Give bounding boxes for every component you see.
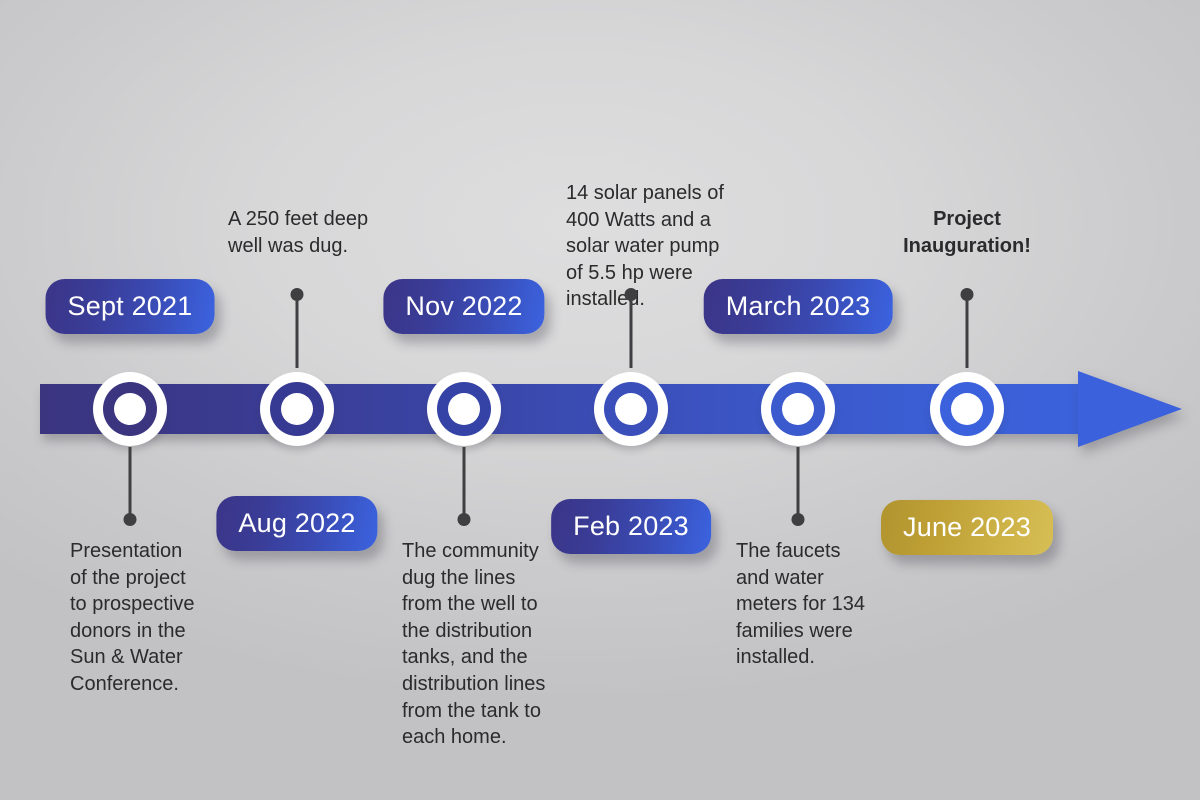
milestone-pin-stem-5: [797, 447, 800, 519]
milestone-label-text-6: June 2023: [903, 512, 1031, 543]
milestone-pin-dot-5: [792, 513, 805, 526]
milestone-node-ring-1: [103, 382, 157, 436]
milestone-label-3[interactable]: Nov 2022: [383, 279, 544, 334]
milestone-pin-stem-3: [463, 447, 466, 519]
milestone-label-6[interactable]: June 2023: [881, 500, 1053, 555]
milestone-label-text-1: Sept 2021: [68, 291, 193, 322]
timeline-diagram: Sept 2021 Presentation of the project to…: [0, 0, 1200, 800]
milestone-label-2[interactable]: Aug 2022: [216, 496, 377, 551]
milestone-label-1[interactable]: Sept 2021: [46, 279, 215, 334]
milestone-node-ring-6: [940, 382, 994, 436]
milestone-description-2: A 250 feet deep well was dug.: [228, 206, 428, 259]
milestone-node-ring-4: [604, 382, 658, 436]
milestone-node-1[interactable]: [93, 372, 167, 446]
milestone-pin-dot-1: [124, 513, 137, 526]
milestone-node-2[interactable]: [260, 372, 334, 446]
milestone-label-text-3: Nov 2022: [405, 291, 522, 322]
milestone-label-4[interactable]: Feb 2023: [551, 499, 711, 554]
milestone-node-hole-2: [281, 393, 313, 425]
milestone-node-hole-4: [615, 393, 647, 425]
milestone-node-hole-6: [951, 393, 983, 425]
milestone-description-5: The faucets and water meters for 134 fam…: [736, 538, 936, 671]
milestone-label-text-5: March 2023: [726, 291, 871, 322]
milestone-pin-stem-2: [296, 296, 299, 368]
milestone-pin-dot-2: [291, 288, 304, 301]
milestone-label-text-2: Aug 2022: [238, 508, 355, 539]
milestone-node-hole-5: [782, 393, 814, 425]
milestone-description-6: Project Inauguration!: [837, 206, 1097, 259]
milestone-node-hole-3: [448, 393, 480, 425]
milestone-node-3[interactable]: [427, 372, 501, 446]
milestone-pin-stem-4: [630, 296, 633, 368]
milestone-pin-dot-4: [625, 288, 638, 301]
milestone-node-hole-1: [114, 393, 146, 425]
milestone-pin-stem-1: [129, 447, 132, 519]
milestone-node-ring-3: [437, 382, 491, 436]
timeline-arrow-head-icon: [1078, 371, 1182, 447]
milestone-node-4[interactable]: [594, 372, 668, 446]
milestone-node-6[interactable]: [930, 372, 1004, 446]
milestone-node-ring-5: [771, 382, 825, 436]
milestone-description-3: The community dug the lines from the wel…: [402, 538, 602, 751]
milestone-node-5[interactable]: [761, 372, 835, 446]
timeline-bar: [40, 384, 1085, 434]
milestone-pin-dot-3: [458, 513, 471, 526]
milestone-pin-stem-6: [966, 296, 969, 368]
milestone-description-1: Presentation of the project to prospecti…: [70, 538, 270, 698]
milestone-pin-dot-6: [961, 288, 974, 301]
milestone-node-ring-2: [270, 382, 324, 436]
milestone-label-text-4: Feb 2023: [573, 511, 689, 542]
milestone-label-5[interactable]: March 2023: [704, 279, 893, 334]
